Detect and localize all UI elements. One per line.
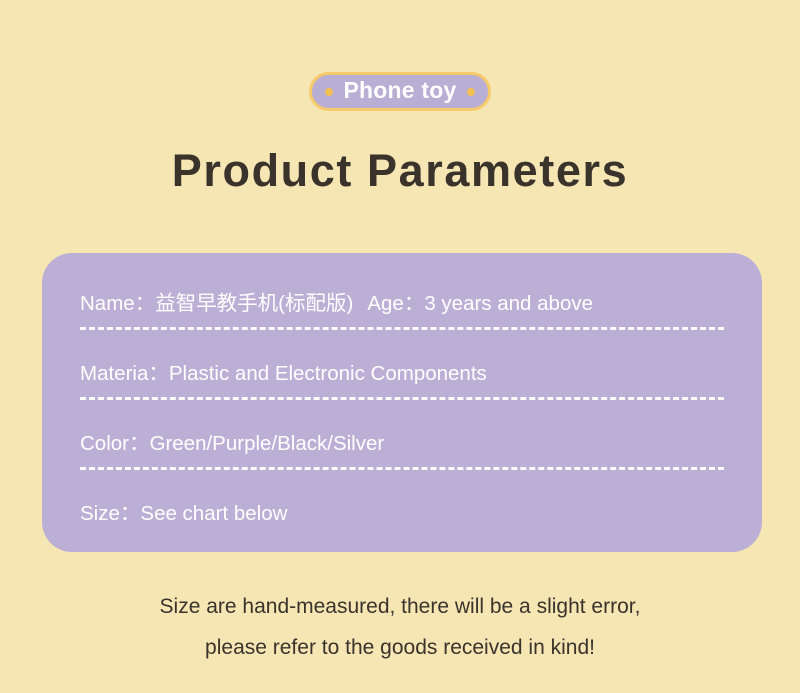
- spec-row-color: Color：Green/Purple/Black/Silver: [80, 434, 724, 455]
- badge-left-dot-icon: [325, 88, 333, 96]
- page-title: Product Parameters: [0, 146, 800, 196]
- spec-separator-age: ：: [404, 292, 425, 315]
- phone-toy-badge: Phone toy: [309, 72, 492, 111]
- badge-label: Phone toy: [344, 79, 457, 104]
- spec-separator-size: ：: [120, 502, 141, 525]
- spec-label-age: Age: [367, 292, 403, 315]
- spec-value-size: See chart below: [140, 502, 287, 525]
- badge-container: Phone toy: [0, 72, 800, 111]
- spec-divider-3: [80, 467, 724, 470]
- product-parameters-page: Phone toy Product Parameters Name：益智早教手机…: [0, 0, 800, 693]
- spec-label-name: Name: [80, 292, 135, 315]
- spec-row-materia: Materia：Plastic and Electronic Component…: [80, 364, 724, 385]
- spec-value-name: 益智早教手机(标配版): [155, 292, 353, 315]
- spec-divider-1: [80, 327, 724, 330]
- spec-divider-2: [80, 397, 724, 400]
- footer-disclaimer: Size are hand-measured, there will be a …: [0, 586, 800, 668]
- spec-value-age: 3 years and above: [424, 292, 593, 315]
- spec-separator-materia: ：: [148, 362, 169, 385]
- spec-separator-name: ：: [135, 292, 156, 315]
- footer-line-2: please refer to the goods received in ki…: [0, 627, 800, 668]
- spec-value-materia: Plastic and Electronic Components: [169, 362, 487, 385]
- footer-line-1: Size are hand-measured, there will be a …: [0, 586, 800, 627]
- spec-row-size: Size：See chart below: [80, 504, 724, 525]
- spec-label-color: Color: [80, 432, 129, 455]
- badge-right-dot-icon: [467, 88, 475, 96]
- spec-row-name: Name：益智早教手机(标配版)Age：3 years and above: [80, 294, 724, 315]
- spec-card: Name：益智早教手机(标配版)Age：3 years and above Ma…: [42, 253, 762, 552]
- spec-label-materia: Materia: [80, 362, 148, 385]
- spec-separator-color: ：: [129, 432, 150, 455]
- spec-value-color: Green/Purple/Black/Silver: [150, 432, 385, 455]
- spec-label-size: Size: [80, 502, 120, 525]
